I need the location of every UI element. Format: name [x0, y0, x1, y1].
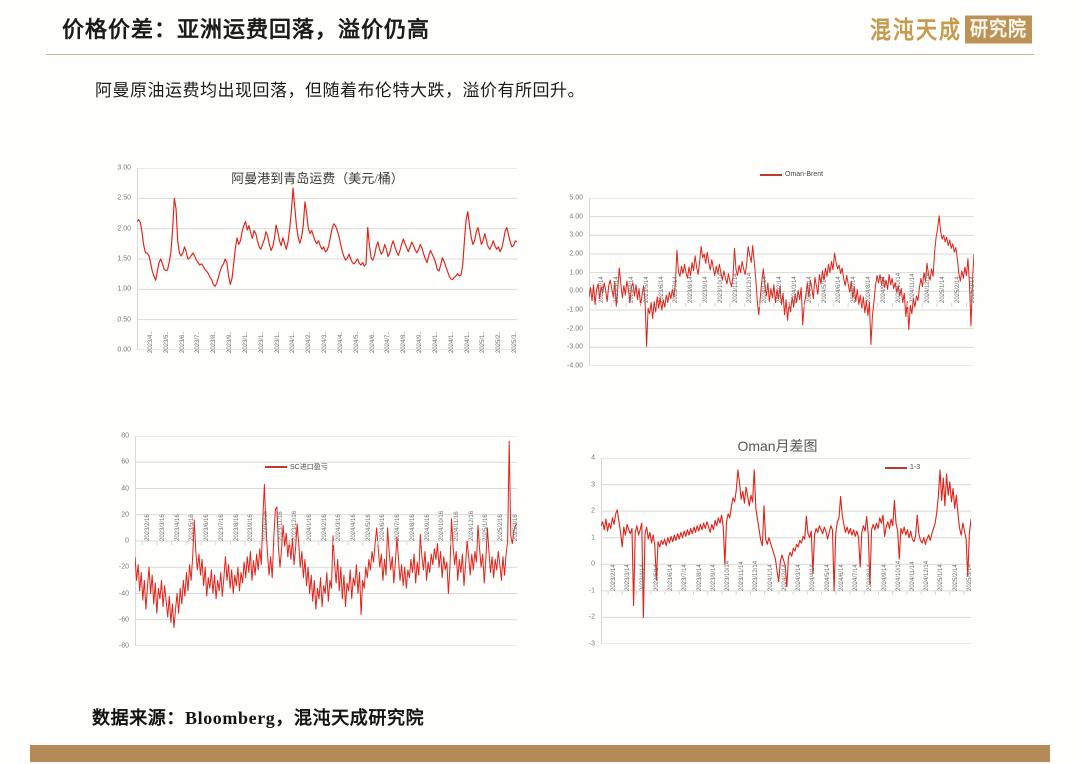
y-axis-tick-label: 5.00: [549, 195, 583, 202]
x-axis-tick-label: 2024/6/14: [839, 564, 845, 591]
x-axis-tick-label: 2023/6/16: [204, 514, 210, 541]
y-axis-tick-label: 40: [95, 485, 129, 492]
data-series-line: [601, 470, 971, 617]
x-axis-tick-label: 2023/7/14: [682, 564, 688, 591]
x-axis-tick-label: 2025/3/16: [513, 514, 519, 541]
y-axis-tick-label: -80: [95, 643, 129, 650]
legend-line-marker: [760, 174, 782, 176]
chart-oman-brent-premium: Oman-Brent -4.00-3.00-2.00-1.000.001.002…: [545, 165, 985, 405]
y-axis-tick-label: -40: [95, 590, 129, 597]
x-axis-tick-label: 2024/11/16: [454, 511, 460, 541]
logo-calligraphy-text: 混沌天成: [870, 12, 962, 47]
x-axis-tick-label: 2024/7..: [385, 331, 391, 353]
x-axis-tick-label: 2023/10/14: [725, 561, 731, 591]
x-axis-tick-label: 2025/2/16: [498, 514, 504, 541]
x-axis-tick-label: 2023/1..: [275, 331, 281, 353]
y-axis-tick-label: -1: [561, 587, 595, 594]
chart-oman-monthly-spread: Oman月差图 1-3 -3-2-1012342023/2/142023/3/1…: [565, 432, 990, 682]
y-axis-tick-label: 3.00: [549, 232, 583, 239]
chart-legend: Oman-Brent: [760, 171, 823, 178]
x-axis-tick-label: 2024/3/14: [792, 276, 798, 303]
x-axis-tick-label: 2025/3/14: [970, 276, 976, 303]
x-axis-tick-label: 2024/12/16: [469, 511, 475, 541]
x-axis-tick-label: 2023/1..: [243, 331, 249, 353]
x-axis-tick-label: 2024/10/16: [439, 511, 445, 541]
x-axis-tick-label: 2023/2/14: [611, 564, 617, 591]
x-axis-tick-label: 2024/7/14: [851, 276, 857, 303]
x-axis-tick-label: 2024/8..: [401, 331, 407, 353]
x-axis-tick-label: 2024/2/14: [777, 276, 783, 303]
x-axis-tick-label: 2024/1..: [290, 331, 296, 353]
footer-bar: [30, 745, 1050, 762]
logo-badge-research-institute: 研究院: [965, 15, 1032, 43]
x-axis-tick-label: 2024/11/14: [910, 273, 916, 303]
x-axis-tick-label: 2023/5/16: [189, 514, 195, 541]
page-title: 价格价差：亚洲运费回落，溢价仍高: [62, 12, 430, 44]
y-axis-tick-label: -2: [561, 614, 595, 621]
y-axis-tick-label: -2.00: [549, 325, 583, 332]
x-axis-tick-label: 2024/1/16: [307, 514, 313, 541]
x-axis-tick-label: 2023/8..: [211, 331, 217, 353]
x-axis-tick-label: 2024/1..: [465, 331, 471, 353]
x-axis-tick-label: 2024/6/16: [380, 514, 386, 541]
y-axis-tick-label: -3.00: [549, 344, 583, 351]
x-axis-tick-label: 2023/2/16: [145, 514, 151, 541]
x-axis-tick-label: 2023/10/14: [718, 273, 724, 303]
x-axis-tick-label: 2023/11/14: [733, 273, 739, 303]
x-axis-tick-label: 2024/5/14: [825, 564, 831, 591]
y-axis-tick-label: 0: [561, 561, 595, 568]
x-axis-tick-label: 2024/5/16: [366, 514, 372, 541]
x-axis-tick-label: 2025/1..: [480, 331, 486, 353]
x-axis-tick-label: 2023/8/14: [688, 276, 694, 303]
x-axis-tick-label: 2025/1/14: [938, 564, 944, 591]
y-axis-tick-label: 60: [95, 459, 129, 466]
x-axis-tick-label: 2023/12/16: [292, 511, 298, 541]
y-axis-tick-label: 2.00: [97, 225, 131, 232]
x-axis-tick-label: 2024/6/14: [836, 276, 842, 303]
y-axis-tick-label: 1: [561, 534, 595, 541]
x-axis-tick-label: 2023/4/14: [640, 564, 646, 591]
y-axis-tick-label: -20: [95, 564, 129, 571]
x-axis-tick-label: 2024/12/14: [924, 561, 930, 591]
x-axis-tick-label: 2023/5/14: [644, 276, 650, 303]
x-axis-tick-label: 2024/9/14: [882, 564, 888, 591]
y-axis-tick-label: 3.00: [97, 165, 131, 172]
x-axis-tick-label: 2025/2/14: [955, 276, 961, 303]
x-axis-tick-label: 2024/4/14: [810, 564, 816, 591]
plot-area: [135, 436, 517, 646]
x-axis-tick-label: 2024/1/14: [762, 276, 768, 303]
x-axis-tick-label: 2023/3/14: [614, 276, 620, 303]
x-axis-tick-label: 2023/6/14: [668, 564, 674, 591]
slide-root: 价格价差：亚洲运费回落，溢价仍高 混沌天成 研究院 阿曼原油运费均出现回落，但随…: [0, 0, 1080, 764]
x-axis-tick-label: 2024/1/14: [768, 564, 774, 591]
x-axis-tick-label: 2024/4..: [338, 331, 344, 353]
x-axis-tick-label: 2024/4/16: [351, 514, 357, 541]
x-axis-tick-label: 2023/7/16: [219, 514, 225, 541]
x-axis-tick-label: 2023/6/14: [659, 276, 665, 303]
legend-label: Oman-Brent: [785, 171, 823, 178]
x-axis-tick-label: 2025/3..: [512, 331, 518, 353]
y-axis-tick-label: 2.00: [549, 251, 583, 258]
plot-area: [137, 168, 517, 350]
x-axis-tick-label: 2023/9/16: [248, 514, 254, 541]
x-axis-tick-label: 2023/12/14: [747, 273, 753, 303]
y-axis-tick-label: 1.50: [97, 256, 131, 263]
x-axis-tick-label: 2023/4..: [148, 331, 154, 353]
slide-header: 价格价差：亚洲运费回落，溢价仍高 混沌天成 研究院: [0, 0, 1080, 58]
x-axis-tick-label: 2024/8/14: [866, 276, 872, 303]
header-divider: [46, 54, 1034, 55]
x-axis-tick-label: 2023/9/14: [711, 564, 717, 591]
chart-freight-oman-to-qingdao: 阿曼港到青岛运费（美元/桶） 0.000.501.001.502.002.503…: [95, 160, 540, 400]
y-axis-tick-label: 1.00: [549, 269, 583, 276]
y-axis-tick-label: 1.00: [97, 286, 131, 293]
x-axis-tick-label: 2023/7..: [195, 331, 201, 353]
x-axis-tick-label: 2023/11/14: [739, 561, 745, 591]
x-axis-tick-label: 2023/2/14: [599, 276, 605, 303]
chart-canvas: [601, 458, 971, 644]
y-axis-tick-label: -4.00: [549, 363, 583, 370]
x-axis-tick-label: 2024/1..: [449, 331, 455, 353]
y-axis-tick-label: -1.00: [549, 307, 583, 314]
x-axis-tick-label: 2023/4/14: [629, 276, 635, 303]
x-axis-tick-label: 2024/3/16: [336, 514, 342, 541]
x-axis-tick-label: 2023/3/16: [160, 514, 166, 541]
x-axis-tick-label: 2024/9..: [417, 331, 423, 353]
y-axis-tick-label: 2: [561, 508, 595, 515]
x-axis-tick-label: 2023/6..: [180, 331, 186, 353]
x-axis-tick-label: 2024/6..: [370, 331, 376, 353]
x-axis-tick-label: 2023/1..: [259, 331, 265, 353]
x-axis-tick-label: 2024/5..: [354, 331, 360, 353]
slide-subtitle: 阿曼原油运费均出现回落，但随着布伦特大跌，溢价有所回升。: [95, 76, 585, 101]
data-source-note: 数据来源：Bloomberg，混沌天成研究院: [92, 704, 424, 730]
chart-title: Oman月差图: [565, 436, 990, 456]
y-axis-tick-label: 0.00: [97, 347, 131, 354]
x-axis-tick-label: 2025/1/16: [483, 514, 489, 541]
x-axis-tick-label: 2024/10/14: [896, 273, 902, 303]
y-axis-tick-label: -60: [95, 616, 129, 623]
x-axis-tick-label: 2024/2/16: [322, 514, 328, 541]
x-axis-tick-label: 2024/9/16: [425, 514, 431, 541]
x-axis-tick-label: 2023/3/14: [625, 564, 631, 591]
x-axis-tick-label: 2024/2..: [306, 331, 312, 353]
x-axis-tick-label: 2023/5..: [164, 331, 170, 353]
x-axis-tick-label: 2024/9/14: [881, 276, 887, 303]
y-axis-tick-label: 0.50: [97, 316, 131, 323]
chart-canvas: [137, 168, 517, 350]
x-axis-tick-label: 2023/5/14: [654, 564, 660, 591]
x-axis-tick-label: 2024/2/14: [782, 564, 788, 591]
chart-sc-import-profit-loss: SC进口盈亏 -80-60-40-200204060802023/2/16202…: [95, 428, 540, 678]
x-axis-tick-label: 2023/9/14: [703, 276, 709, 303]
x-axis-tick-label: 2024/3/14: [796, 564, 802, 591]
x-axis-tick-label: 2023/4/16: [175, 514, 181, 541]
plot-area: [601, 458, 971, 644]
y-axis-tick-label: 0.00: [549, 288, 583, 295]
x-axis-tick-label: 2024/3..: [322, 331, 328, 353]
y-axis-tick-label: 80: [95, 433, 129, 440]
x-axis-tick-label: 2024/1..: [433, 331, 439, 353]
x-axis-tick-label: 2024/8/16: [410, 514, 416, 541]
y-axis-tick-label: 20: [95, 511, 129, 518]
y-axis-tick-label: 4.00: [549, 213, 583, 220]
x-axis-tick-label: 2023/7/14: [673, 276, 679, 303]
x-axis-tick-label: 2024/8/14: [867, 564, 873, 591]
x-axis-tick-label: 2024/7/16: [395, 514, 401, 541]
x-axis-tick-label: 2024/12/14: [925, 273, 931, 303]
chart-canvas: [135, 436, 517, 646]
x-axis-tick-label: 2025/3/14: [967, 564, 973, 591]
x-axis-tick-label: 2023/12/14: [753, 561, 759, 591]
x-axis-tick-label: 2023/8/16: [234, 514, 240, 541]
x-axis-tick-label: 2024/4/14: [807, 276, 813, 303]
y-axis-tick-label: 0: [95, 538, 129, 545]
x-axis-tick-label: 2023/8/14: [697, 564, 703, 591]
y-axis-tick-label: -3: [561, 641, 595, 648]
y-axis-tick-label: 3: [561, 481, 595, 488]
x-axis-tick-label: 2025/2/14: [953, 564, 959, 591]
company-logo: 混沌天成 研究院: [870, 12, 1032, 46]
x-axis-tick-label: 2025/1/14: [940, 276, 946, 303]
x-axis-tick-label: 2024/10/14: [896, 561, 902, 591]
y-axis-tick-label: 4: [561, 455, 595, 462]
y-axis-tick-label: 2.50: [97, 195, 131, 202]
x-axis-tick-label: 2023/10/16: [263, 511, 269, 541]
x-axis-tick-label: 2024/11/14: [910, 561, 916, 591]
x-axis-tick-label: 2024/7/14: [853, 564, 859, 591]
x-axis-tick-label: 2025/2..: [496, 331, 502, 353]
data-series-line: [137, 188, 517, 286]
x-axis-tick-label: 2024/5/14: [822, 276, 828, 303]
x-axis-tick-label: 2023/9..: [227, 331, 233, 353]
x-axis-tick-label: 2023/11/16: [278, 511, 284, 541]
